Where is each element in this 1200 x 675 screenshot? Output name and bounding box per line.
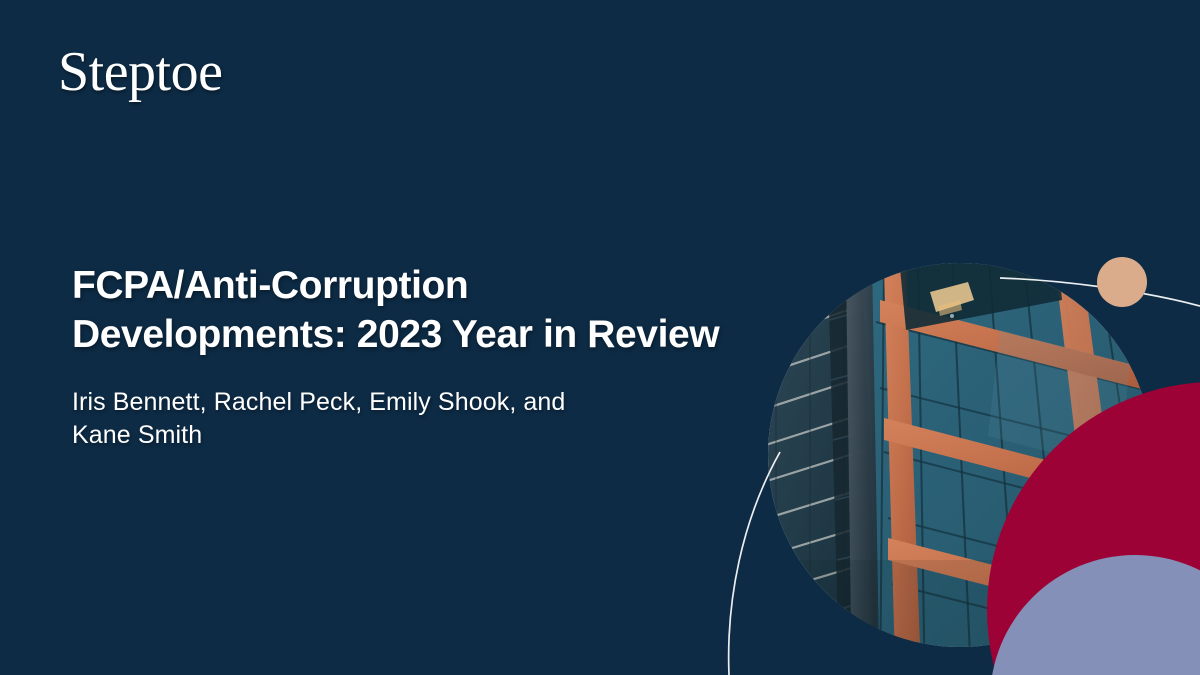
thin-white-arc-left [729, 452, 780, 675]
crimson-circle [987, 382, 1200, 675]
steptoe-logo[interactable]: Steptoe [58, 44, 222, 100]
title-line-1: FCPA/Anti-Corruption [72, 264, 468, 307]
periwinkle-circle [990, 555, 1200, 675]
author-list: Iris Bennett, Rachel Peck, Emily Shook, … [72, 386, 772, 454]
slide-text-block: FCPA/Anti-Corruption Developments: 2023 … [72, 262, 772, 453]
author-line-2: Kane Smith [72, 421, 202, 449]
title-line-2: Developments: 2023 Year in Review [72, 313, 719, 356]
author-line-1: Iris Bennett, Rachel Peck, Emily Shook, … [72, 388, 565, 416]
title-slide: Steptoe FCPA/Anti-Corruption Development… [0, 0, 1200, 675]
crimson-circle-back [987, 382, 1200, 675]
tan-circle [1097, 257, 1147, 307]
page-title: FCPA/Anti-Corruption Developments: 2023 … [72, 262, 772, 360]
thin-white-arc-upper [1000, 278, 1200, 306]
